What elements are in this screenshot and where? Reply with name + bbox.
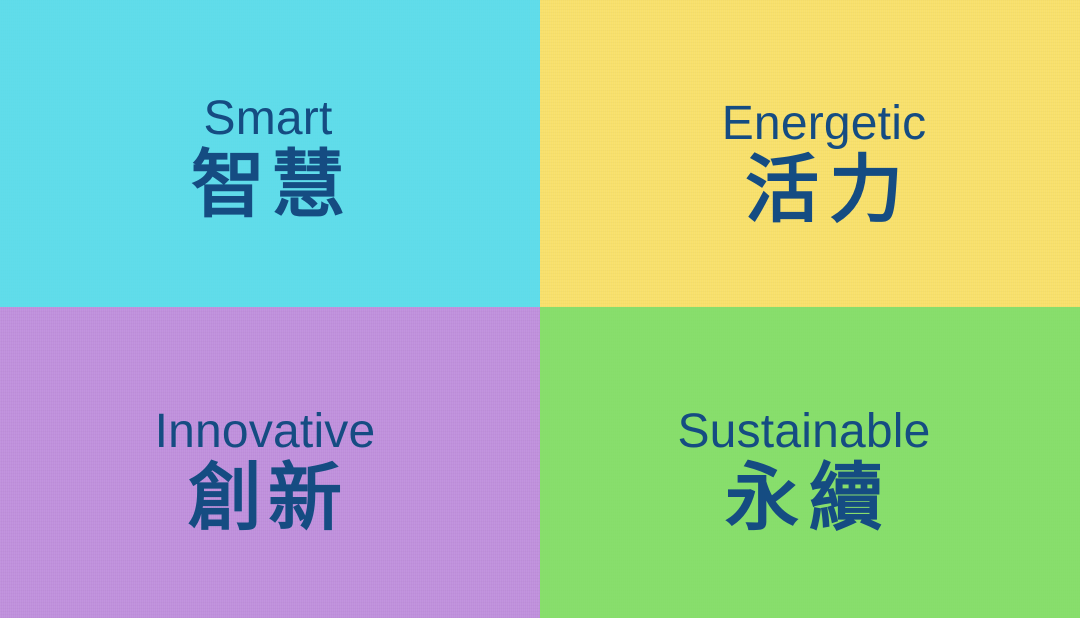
panel-content-energetic: Energetic 活力 bbox=[722, 100, 927, 227]
value-panel-innovative: Innovative 創新 bbox=[0, 307, 540, 618]
value-label-en-innovative: Innovative bbox=[155, 408, 376, 457]
value-label-en-smart: Smart bbox=[203, 95, 332, 144]
value-label-zh-smart: 智慧 bbox=[185, 148, 351, 222]
value-panel-smart: Smart 智慧 bbox=[0, 0, 540, 307]
value-label-zh-innovative: 創新 bbox=[182, 461, 348, 535]
value-label-zh-sustainable: 永續 bbox=[715, 461, 893, 535]
panel-content-sustainable: Sustainable 永續 bbox=[677, 408, 930, 535]
values-grid: Smart 智慧 Energetic 活力 Innovative 創新 Sust… bbox=[0, 0, 1080, 618]
value-panel-energetic: Energetic 活力 bbox=[540, 0, 1080, 307]
panel-content-innovative: Innovative 創新 bbox=[155, 408, 376, 535]
value-panel-sustainable: Sustainable 永續 bbox=[540, 307, 1080, 618]
panel-content-smart: Smart 智慧 bbox=[185, 95, 351, 222]
value-label-en-sustainable: Sustainable bbox=[677, 408, 930, 457]
value-label-zh-energetic: 活力 bbox=[735, 153, 913, 227]
value-label-en-energetic: Energetic bbox=[722, 100, 927, 149]
